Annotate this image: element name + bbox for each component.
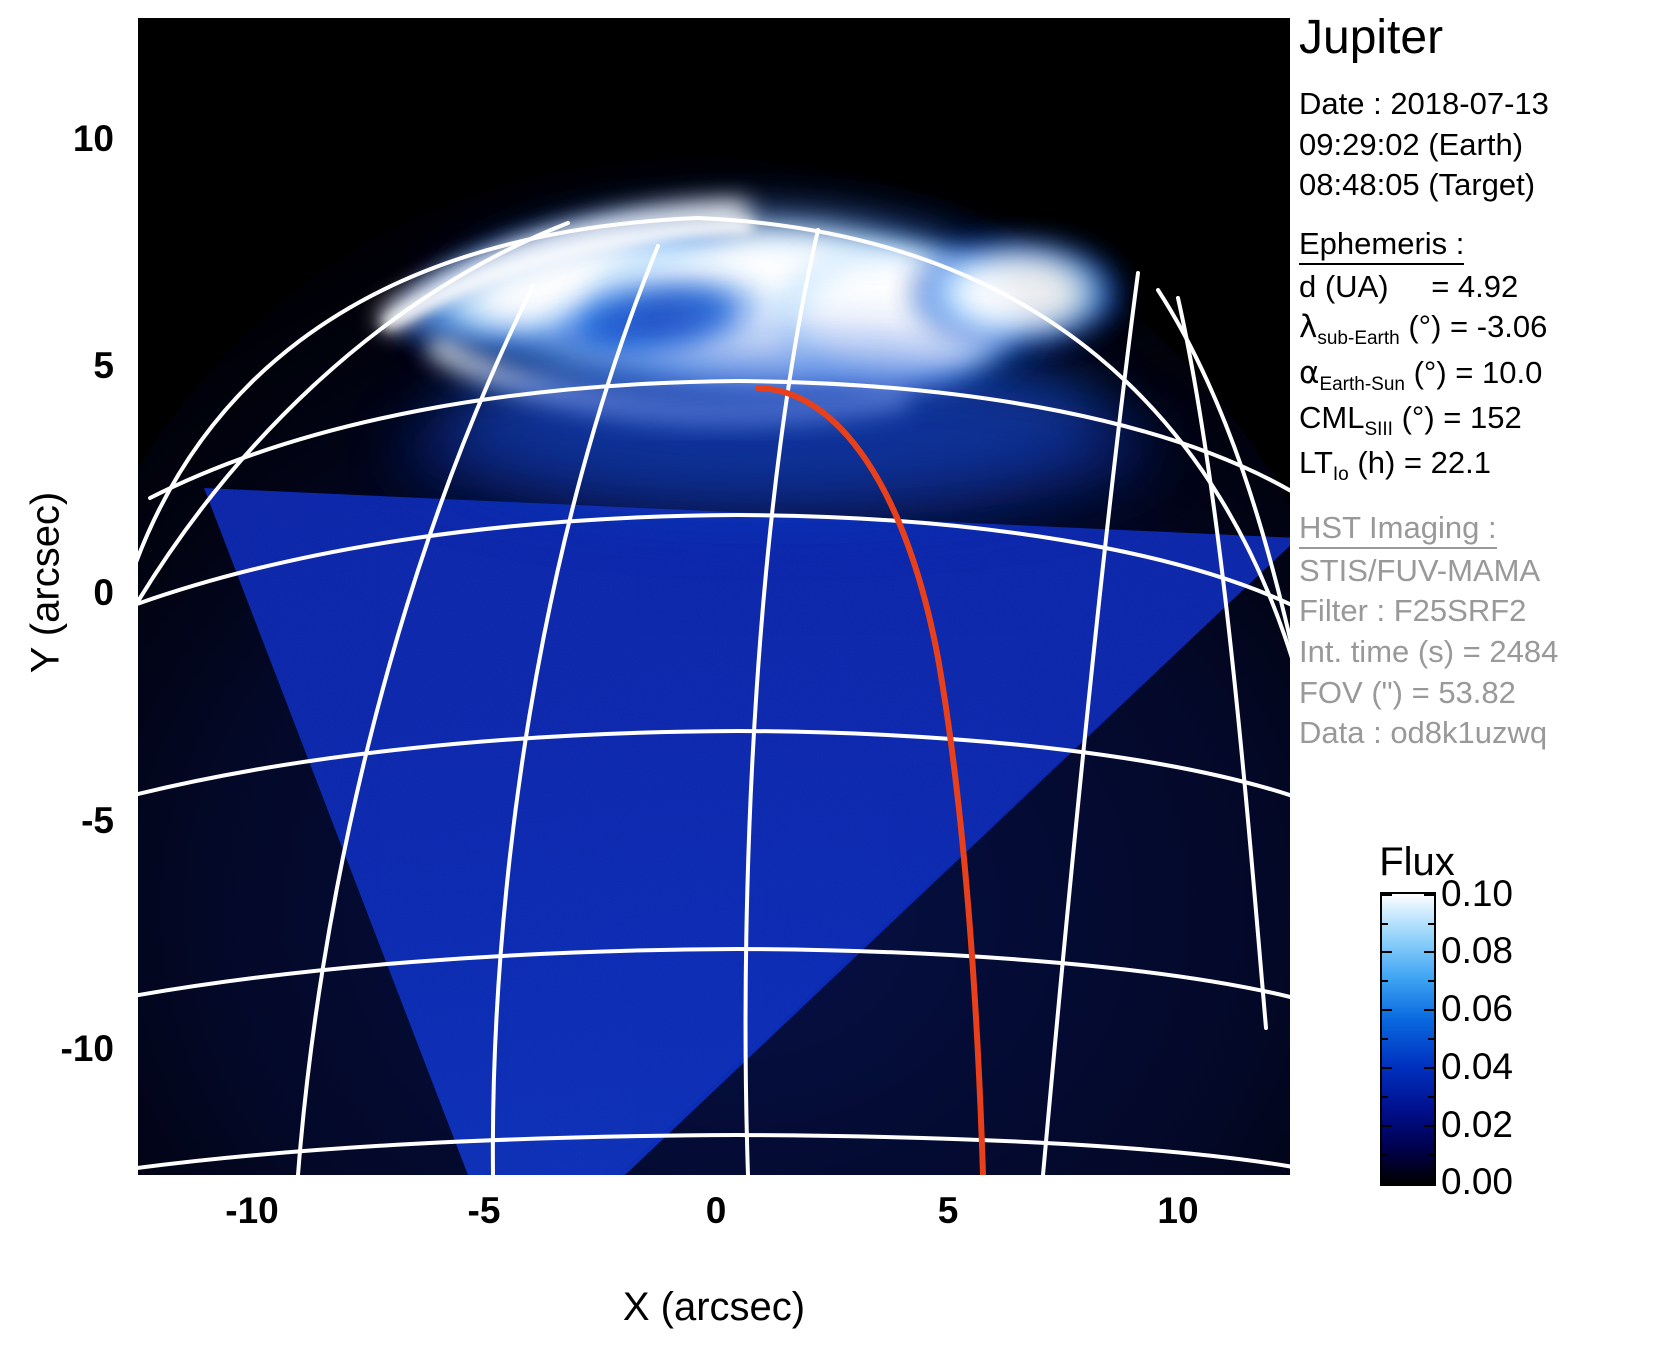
x-tick-m5: -5 xyxy=(424,1190,544,1232)
ephemeris-row-lt: LTIo (h) = 22.1 xyxy=(1299,443,1676,488)
colorbar-tick-010-left xyxy=(1382,894,1392,896)
hst-filter: Filter : F25SRF2 xyxy=(1299,591,1676,632)
colorbar-label-004: 0.04 xyxy=(1441,1046,1513,1088)
colorbar-minor-tick xyxy=(1382,923,1388,925)
colorbar-minor-tick xyxy=(1382,1038,1388,1040)
ephemeris-sub-alpha: Earth-Sun xyxy=(1319,374,1405,395)
x-tick-5: 5 xyxy=(888,1190,1008,1232)
ephemeris-value-cml: = 152 xyxy=(1443,400,1521,435)
x-tick-10: 10 xyxy=(1118,1190,1238,1232)
colorbar-tick-010 xyxy=(1424,894,1434,896)
colorbar-label-008: 0.08 xyxy=(1441,930,1513,972)
ephemeris-sub-lambda: sub-Earth xyxy=(1317,329,1399,350)
y-tick-0: 0 xyxy=(93,572,114,614)
hst-fov: FOV (") = 53.82 xyxy=(1299,673,1676,714)
colorbar-tick-008-left xyxy=(1382,951,1392,953)
colorbar-tick-002 xyxy=(1424,1125,1434,1127)
hst-instrument: STIS/FUV-MAMA xyxy=(1299,551,1676,592)
hst-imaging-block: HST Imaging : STIS/FUV-MAMA Filter : F25… xyxy=(1299,510,1676,754)
hst-data-id: Data : od8k1uzwq xyxy=(1299,713,1676,754)
colorbar-tick-000 xyxy=(1424,1182,1434,1184)
colorbar-minor-tick xyxy=(1428,1038,1434,1040)
colorbar-tick-004-left xyxy=(1382,1067,1392,1069)
ephemeris-row-distance: d (UA) = 4.92 xyxy=(1299,267,1676,308)
ephemeris-heading: Ephemeris : xyxy=(1299,226,1464,265)
y-tick-m10: -10 xyxy=(61,1028,114,1070)
colorbar-tick-006 xyxy=(1424,1009,1434,1011)
observation-date-block: Date : 2018-07-13 09:29:02 (Earth) 08:48… xyxy=(1299,84,1676,206)
x-tick-0: 0 xyxy=(656,1190,776,1232)
ephemeris-value-lambda: = -3.06 xyxy=(1450,309,1547,344)
ephemeris-sub-lt: Io xyxy=(1333,464,1349,485)
colorbar-tick-004 xyxy=(1424,1067,1434,1069)
ephemeris-unit-lambda: (°) xyxy=(1408,309,1441,344)
hst-imaging-heading: HST Imaging : xyxy=(1299,510,1497,549)
colorbar-minor-tick xyxy=(1428,1154,1434,1156)
hst-int-time: Int. time (s) = 2484 xyxy=(1299,632,1676,673)
colorbar-minor-tick xyxy=(1428,980,1434,982)
colorbar-tick-002-left xyxy=(1382,1125,1392,1127)
x-axis-title: X (arcsec) xyxy=(138,1285,1290,1330)
y-axis-title: Y (arcsec) xyxy=(24,463,69,703)
jupiter-aurora-image xyxy=(138,18,1290,1175)
ephemeris-row-cml: CMLSIII (°) = 152 xyxy=(1299,398,1676,443)
colorbar-label-010: 0.10 xyxy=(1441,873,1513,915)
ephemeris-label-lambda: λ xyxy=(1299,309,1317,345)
colorbar-minor-tick xyxy=(1382,1154,1388,1156)
ephemeris-row-alpha: αEarth-Sun (°) = 10.0 xyxy=(1299,353,1676,398)
colorbar-tick-008 xyxy=(1424,951,1434,953)
y-tick-10: 10 xyxy=(73,118,114,160)
ephemeris-value-distance: = 4.92 xyxy=(1431,269,1518,304)
colorbar-label-002: 0.02 xyxy=(1441,1104,1513,1146)
ephemeris-value-alpha: = 10.0 xyxy=(1455,355,1542,390)
image-plot-area[interactable] xyxy=(138,18,1290,1175)
colorbar-label-000: 0.00 xyxy=(1441,1161,1513,1203)
figure-root: 10 5 0 -5 -10 -10 -5 0 5 10 Y (arcsec) X… xyxy=(0,0,1676,1367)
colorbar-minor-tick xyxy=(1428,923,1434,925)
ephemeris-block: Ephemeris : d (UA) = 4.92 λsub-Earth (°)… xyxy=(1299,226,1676,488)
date-line: Date : 2018-07-13 xyxy=(1299,84,1676,125)
colorbar-minor-tick xyxy=(1382,1096,1388,1098)
ephemeris-label-alpha: α xyxy=(1299,355,1319,391)
colorbar-label-006: 0.06 xyxy=(1441,988,1513,1030)
colorbar-group: Flux (counts.s-1) xyxy=(1299,840,1676,1200)
earth-time-line: 09:29:02 (Earth) xyxy=(1299,125,1676,166)
target-time-line: 08:48:05 (Target) xyxy=(1299,165,1676,206)
ephemeris-label-cml: CML xyxy=(1299,400,1364,435)
colorbar-tick-006-left xyxy=(1382,1009,1392,1011)
ephemeris-label-lt: LT xyxy=(1299,445,1333,480)
colorbar-gradient[interactable] xyxy=(1380,892,1436,1186)
y-tick-m5: -5 xyxy=(81,800,114,842)
colorbar-minor-tick xyxy=(1428,1096,1434,1098)
ephemeris-row-lambda: λsub-Earth (°) = -3.06 xyxy=(1299,307,1676,352)
info-panel: Jupiter Date : 2018-07-13 09:29:02 (Eart… xyxy=(1299,14,1676,754)
ephemeris-sub-cml: SIII xyxy=(1364,419,1393,440)
x-tick-m10: -10 xyxy=(192,1190,312,1232)
ephemeris-unit-cml: (°) xyxy=(1402,400,1435,435)
target-name: Jupiter xyxy=(1299,14,1676,62)
ephemeris-unit-lt: (h) xyxy=(1357,445,1395,480)
auroral-oval xyxy=(370,188,1158,518)
colorbar-tick-000-left xyxy=(1382,1182,1392,1184)
ephemeris-value-lt: = 22.1 xyxy=(1404,445,1491,480)
ephemeris-label-distance: d (UA) xyxy=(1299,269,1389,304)
ephemeris-unit-alpha: (°) xyxy=(1414,355,1447,390)
colorbar-minor-tick xyxy=(1382,980,1388,982)
y-tick-5: 5 xyxy=(93,345,114,387)
